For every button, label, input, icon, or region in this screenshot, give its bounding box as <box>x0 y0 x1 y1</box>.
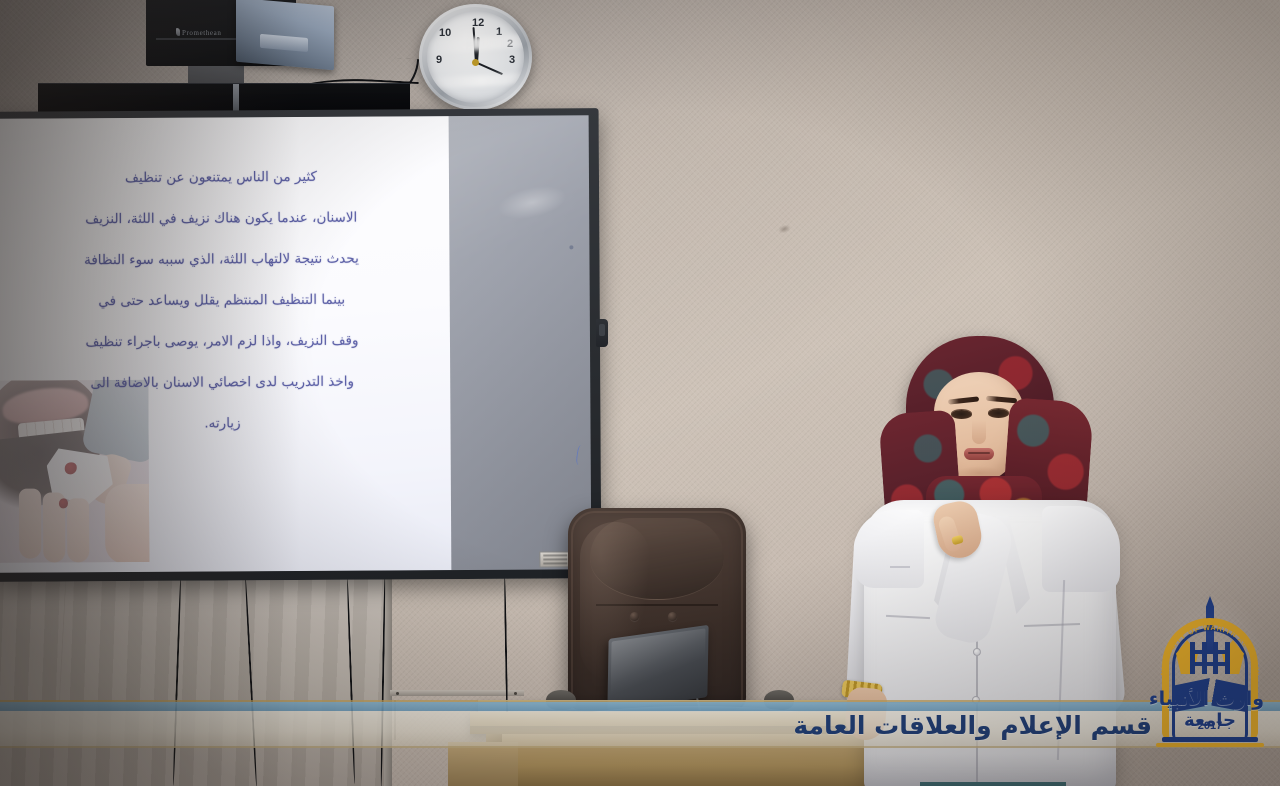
logo-year: 2017 <box>1190 720 1230 732</box>
soundbar <box>38 83 410 113</box>
logo-base-bar-gold <box>1156 743 1264 747</box>
slide-line: واخذ التدريب لدى اخصائي الاسنان بالاضافة… <box>6 361 438 405</box>
chair-tuft-button <box>630 612 639 621</box>
chair-tuft-button <box>668 612 677 621</box>
whiteboard-sticker <box>539 551 571 567</box>
whiteboard: كثير من الناس يمتنعون عن تنظيف الاسنان، … <box>0 108 601 582</box>
clock-numeral-3: 3 <box>509 54 515 66</box>
wall-rail-vertical <box>384 578 392 786</box>
whiteboard-pen-holder <box>596 319 608 347</box>
clock-glare-lower <box>427 72 524 89</box>
svg-text:UNIVERSITY OF WARITH AL-ANBIYA: UNIVERSITY OF WARITH AL-ANBIYA <box>1156 612 1261 676</box>
clock-numeral-9: 9 <box>436 54 442 66</box>
slide-line: كثير من الناس يمتنعون عن تنظيف <box>5 156 437 200</box>
banner-department-label: قسم الإعلام والعلاقات العامة <box>793 700 1152 750</box>
wall-clock: 12 1 2 3 9 10 <box>419 4 532 110</box>
slide-line: بينما التنظيف المنتظم يقلل ويساعد حتى في <box>6 279 438 323</box>
coat-shoulder-left <box>854 510 924 588</box>
university-logo: UNIVERSITY OF WARITH AL-ANBIYA وارث الأن… <box>1146 592 1274 750</box>
wall-rail-horizontal <box>390 690 524 696</box>
logo-base-bar <box>1162 737 1258 742</box>
projector-brand-label: Promethean <box>176 28 221 37</box>
desk-side-panel <box>448 742 518 786</box>
whiteboard-unlit-area <box>449 115 592 570</box>
slide-line: وقف النزيف، واذا لزم الامر، يوصى باجراء … <box>6 320 438 364</box>
promethean-logo-icon <box>176 28 180 36</box>
coat-chest-pocket <box>890 566 910 568</box>
eye-left <box>951 410 972 419</box>
clock-face: 12 1 2 3 9 10 <box>427 11 524 103</box>
slide-line: الاسنان، عندما يكون هناك نزيف في اللثة، … <box>5 197 437 241</box>
skirt <box>920 782 1066 786</box>
nose <box>972 420 986 444</box>
slide-line: زيارته. <box>6 402 438 446</box>
coat-button <box>973 648 981 656</box>
coat-shoulder-right <box>1042 506 1120 592</box>
slide-line: يحدث نتيجة لالتهاب اللثة، الذي سببه سوء … <box>5 238 437 282</box>
classroom-photo-scene: Promethean 12 1 2 3 9 10 <box>0 0 1280 786</box>
clock-center-pin <box>472 59 479 66</box>
clock-numeral-10: 10 <box>439 27 451 39</box>
wall-seam <box>394 700 396 740</box>
laptop <box>607 625 708 711</box>
wall-curtain <box>0 578 385 786</box>
eye-right <box>988 409 1009 418</box>
slide-text-block: كثير من الناس يمتنعون عن تنظيف الاسنان، … <box>5 156 439 446</box>
whiteboard-dot-mark <box>569 245 573 249</box>
whiteboard-surface: كثير من الناس يمتنعون عن تنظيف الاسنان، … <box>0 115 591 573</box>
mouth <box>964 448 994 460</box>
